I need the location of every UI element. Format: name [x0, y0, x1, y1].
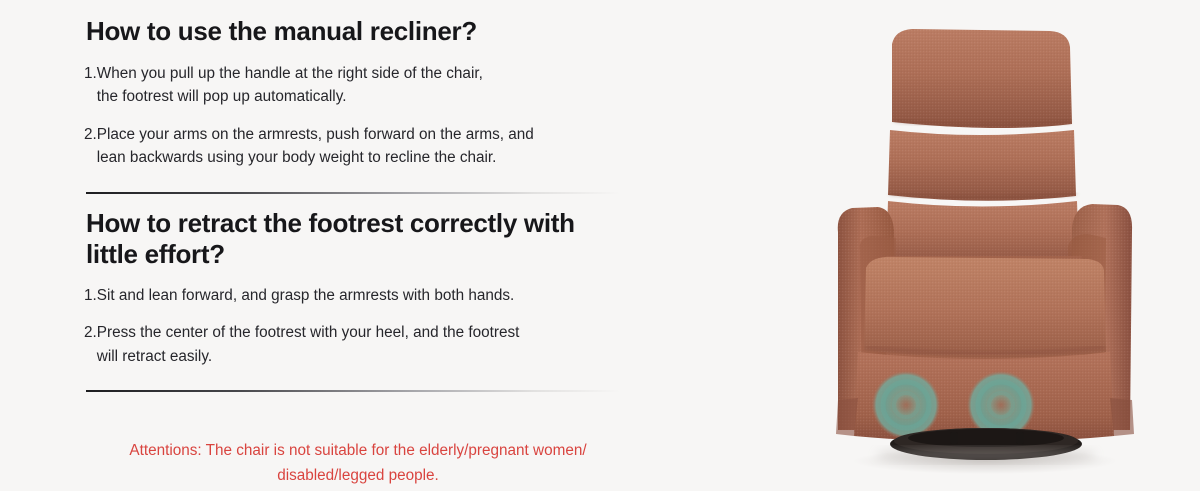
section-heading-retract-footrest: How to retract the footrest correctly wi…: [86, 208, 626, 269]
list-item-text: Sit and lean forward, and grasp the armr…: [97, 284, 644, 307]
list-item: 2. Place your arms on the armrests, push…: [84, 123, 644, 170]
list-item: 1. Sit and lean forward, and grasp the a…: [84, 284, 644, 307]
attention-warning-text: Attentions: The chair is not suitable fo…: [84, 439, 632, 489]
recliner-product-image: [800, 0, 1200, 491]
instruction-list-use: 1. When you pull up the handle at the ri…: [84, 62, 644, 183]
product-info-banner: How to use the manual recliner? 1. When …: [0, 0, 1200, 491]
section-heading-manual-recliner: How to use the manual recliner?: [86, 16, 477, 47]
section-divider: [86, 390, 620, 392]
list-item-number: 1.: [84, 284, 97, 307]
list-item-text: When you pull up the handle at the right…: [97, 62, 644, 109]
list-item-number: 2.: [84, 123, 97, 146]
list-item-number: 2.: [84, 321, 97, 344]
list-item-text: Place your arms on the armrests, push fo…: [97, 123, 644, 170]
instructions-column: How to use the manual recliner? 1. When …: [84, 0, 644, 491]
recliner-illustration: [800, 0, 1200, 491]
list-item: 1. When you pull up the handle at the ri…: [84, 62, 644, 109]
list-item-text: Press the center of the footrest with yo…: [97, 321, 644, 368]
list-item-number: 1.: [84, 62, 97, 85]
list-item: 2. Press the center of the footrest with…: [84, 321, 644, 368]
section-divider: [86, 192, 620, 194]
instruction-list-retract: 1. Sit and lean forward, and grasp the a…: [84, 284, 644, 382]
